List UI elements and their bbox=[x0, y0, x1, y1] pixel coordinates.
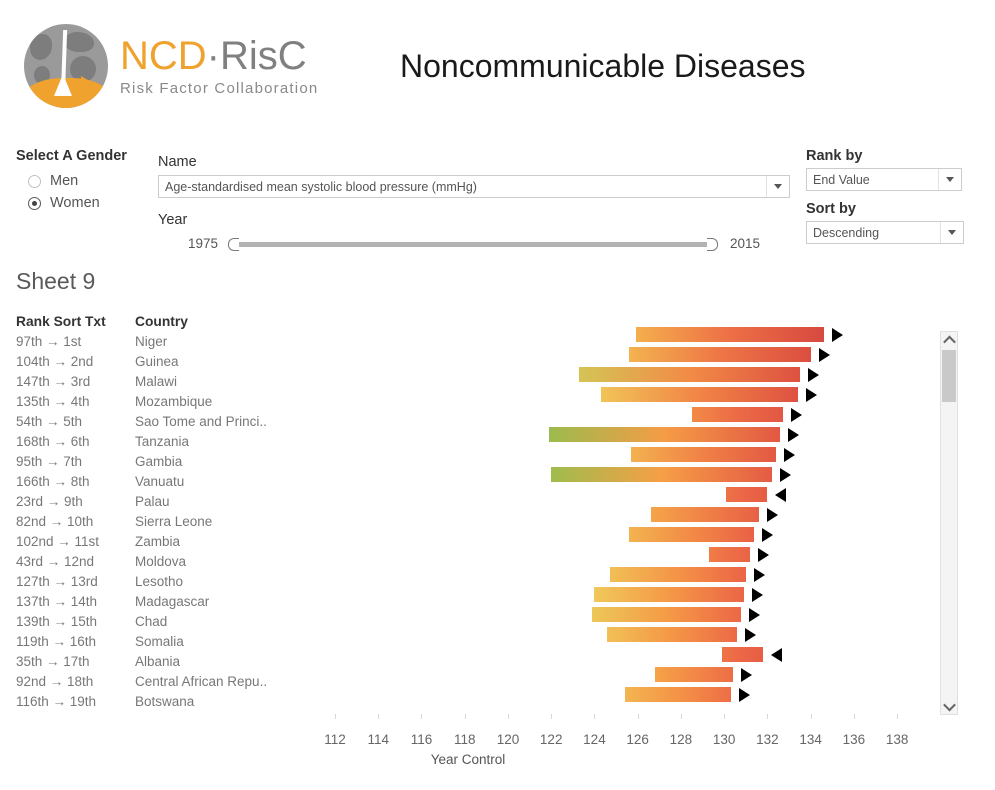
year-filter-label: Year bbox=[158, 212, 790, 228]
chart-bar[interactable] bbox=[610, 567, 746, 582]
axis-tick bbox=[897, 714, 898, 719]
axis-tick-label: 116 bbox=[411, 732, 433, 747]
chart-bar[interactable] bbox=[692, 407, 783, 422]
page-header: NCD·RisC Risk Factor Collaboration Nonco… bbox=[0, 0, 995, 130]
rank-by-filter: Rank by End Value bbox=[806, 148, 962, 191]
sort-by-select[interactable]: Descending bbox=[806, 221, 964, 244]
name-filter: Name Age-standardised mean systolic bloo… bbox=[158, 154, 790, 198]
x-axis-title: Year Control bbox=[0, 752, 936, 767]
increase-marker-icon bbox=[819, 348, 830, 362]
decrease-marker-icon bbox=[775, 488, 786, 502]
increase-marker-icon bbox=[767, 508, 778, 522]
increase-marker-icon bbox=[806, 388, 817, 402]
year-max-label: 2015 bbox=[718, 236, 790, 251]
increase-marker-icon bbox=[739, 688, 750, 702]
chart-bar[interactable] bbox=[631, 447, 776, 462]
increase-marker-icon bbox=[791, 408, 802, 422]
logo-ncd: NCD bbox=[120, 34, 207, 78]
axis-tick bbox=[551, 714, 552, 719]
radio-label-women: Women bbox=[50, 195, 100, 211]
increase-marker-icon bbox=[780, 468, 791, 482]
sheet-title: Sheet 9 bbox=[16, 268, 95, 295]
axis-tick-label: 138 bbox=[886, 732, 909, 747]
dashboard-root: NCD·RisC Risk Factor Collaboration Nonco… bbox=[0, 0, 995, 790]
year-range-slider[interactable]: 1975 2015 bbox=[158, 236, 790, 251]
sort-by-value: Descending bbox=[807, 226, 879, 240]
axis-tick bbox=[378, 714, 379, 719]
name-select[interactable]: Age-standardised mean systolic blood pre… bbox=[158, 175, 790, 198]
year-min-label: 1975 bbox=[158, 236, 228, 251]
increase-marker-icon bbox=[788, 428, 799, 442]
logo-subtitle: Risk Factor Collaboration bbox=[120, 80, 318, 97]
chart-bar[interactable] bbox=[625, 687, 731, 702]
axis-tick-label: 132 bbox=[756, 732, 779, 747]
ncd-risc-logo: NCD·RisC Risk Factor Collaboration bbox=[24, 24, 324, 112]
logo-risc: RisC bbox=[220, 34, 307, 78]
chart-bar[interactable] bbox=[655, 667, 733, 682]
axis-tick bbox=[681, 714, 682, 719]
chart-bar[interactable] bbox=[579, 367, 800, 382]
axis-tick bbox=[335, 714, 336, 719]
name-filter-label: Name bbox=[158, 154, 790, 170]
decrease-marker-icon bbox=[771, 648, 782, 662]
chart-bar[interactable] bbox=[551, 467, 772, 482]
axis-tick bbox=[638, 714, 639, 719]
increase-marker-icon bbox=[752, 588, 763, 602]
chevron-down-icon[interactable] bbox=[766, 176, 789, 197]
axis-tick bbox=[594, 714, 595, 719]
axis-tick-label: 118 bbox=[454, 732, 476, 747]
axis-tick-label: 124 bbox=[583, 732, 606, 747]
chart-bar[interactable] bbox=[549, 427, 780, 442]
chart-bar[interactable] bbox=[629, 347, 811, 362]
chevron-up-icon[interactable] bbox=[941, 332, 957, 348]
chart-bar[interactable] bbox=[726, 487, 767, 502]
increase-marker-icon bbox=[741, 668, 752, 682]
axis-tick-label: 112 bbox=[324, 732, 346, 747]
logo-wordmark: NCD·RisC Risk Factor Collaboration bbox=[120, 34, 318, 97]
sort-by-filter: Sort by Descending bbox=[806, 201, 964, 244]
year-slider-track[interactable] bbox=[228, 242, 718, 247]
axis-tick bbox=[465, 714, 466, 719]
axis-tick bbox=[421, 714, 422, 719]
radio-option-women[interactable]: Women bbox=[16, 192, 146, 214]
chart-bar[interactable] bbox=[607, 627, 737, 642]
sort-by-label: Sort by bbox=[806, 201, 964, 217]
axis-tick-label: 114 bbox=[367, 732, 389, 747]
increase-marker-icon bbox=[784, 448, 795, 462]
axis-tick-label: 126 bbox=[626, 732, 649, 747]
increase-marker-icon bbox=[762, 528, 773, 542]
rank-by-value: End Value bbox=[807, 173, 870, 187]
name-select-value: Age-standardised mean systolic blood pre… bbox=[159, 180, 477, 194]
radio-label-men: Men bbox=[50, 173, 78, 189]
axis-tick-label: 136 bbox=[843, 732, 866, 747]
chart-bar[interactable] bbox=[601, 387, 798, 402]
radio-icon-women[interactable] bbox=[28, 197, 41, 210]
gender-filter-label: Select A Gender bbox=[16, 148, 146, 164]
axis-tick bbox=[767, 714, 768, 719]
increase-marker-icon bbox=[749, 608, 760, 622]
scrollbar-thumb[interactable] bbox=[942, 350, 956, 402]
rank-by-label: Rank by bbox=[806, 148, 962, 164]
vertical-scrollbar[interactable] bbox=[940, 331, 958, 715]
year-filter: Year 1975 2015 bbox=[158, 212, 790, 251]
year-slider-handle-min[interactable] bbox=[228, 238, 239, 251]
chart-bar[interactable] bbox=[709, 547, 750, 562]
radio-icon-men[interactable] bbox=[28, 175, 41, 188]
increase-marker-icon bbox=[754, 568, 765, 582]
globe-icon bbox=[24, 24, 108, 108]
axis-tick bbox=[811, 714, 812, 719]
increase-marker-icon bbox=[745, 628, 756, 642]
axis-tick-label: 122 bbox=[540, 732, 563, 747]
chart-bar[interactable] bbox=[651, 507, 759, 522]
x-axis: 1121141161181201221241261281301321341361… bbox=[0, 714, 936, 734]
year-slider-track-wrap[interactable] bbox=[228, 237, 718, 251]
gender-filter: Select A Gender Men Women bbox=[16, 148, 146, 214]
chevron-down-icon[interactable] bbox=[940, 222, 963, 243]
axis-tick bbox=[854, 714, 855, 719]
increase-marker-icon bbox=[808, 368, 819, 382]
logo-dot: · bbox=[207, 34, 220, 78]
chart-bar[interactable] bbox=[722, 647, 763, 662]
axis-tick-label: 134 bbox=[799, 732, 822, 747]
radio-option-men[interactable]: Men bbox=[16, 170, 146, 192]
increase-marker-icon bbox=[758, 548, 769, 562]
axis-tick-label: 128 bbox=[670, 732, 693, 747]
increase-marker-icon bbox=[832, 328, 843, 342]
axis-tick-label: 120 bbox=[497, 732, 520, 747]
page-title: Noncommunicable Diseases bbox=[400, 48, 806, 85]
axis-tick-label: 130 bbox=[713, 732, 736, 747]
axis-tick bbox=[724, 714, 725, 719]
rank-by-select[interactable]: End Value bbox=[806, 168, 962, 191]
chart-bar[interactable] bbox=[592, 607, 741, 622]
chart-bar[interactable] bbox=[636, 327, 824, 342]
chevron-down-icon[interactable] bbox=[941, 698, 957, 714]
axis-tick bbox=[508, 714, 509, 719]
chart-bar[interactable] bbox=[629, 527, 754, 542]
chart-bar[interactable] bbox=[594, 587, 743, 602]
chevron-down-icon[interactable] bbox=[938, 169, 961, 190]
year-slider-handle-max[interactable] bbox=[707, 238, 718, 251]
bar-chart-plot bbox=[0, 324, 936, 714]
